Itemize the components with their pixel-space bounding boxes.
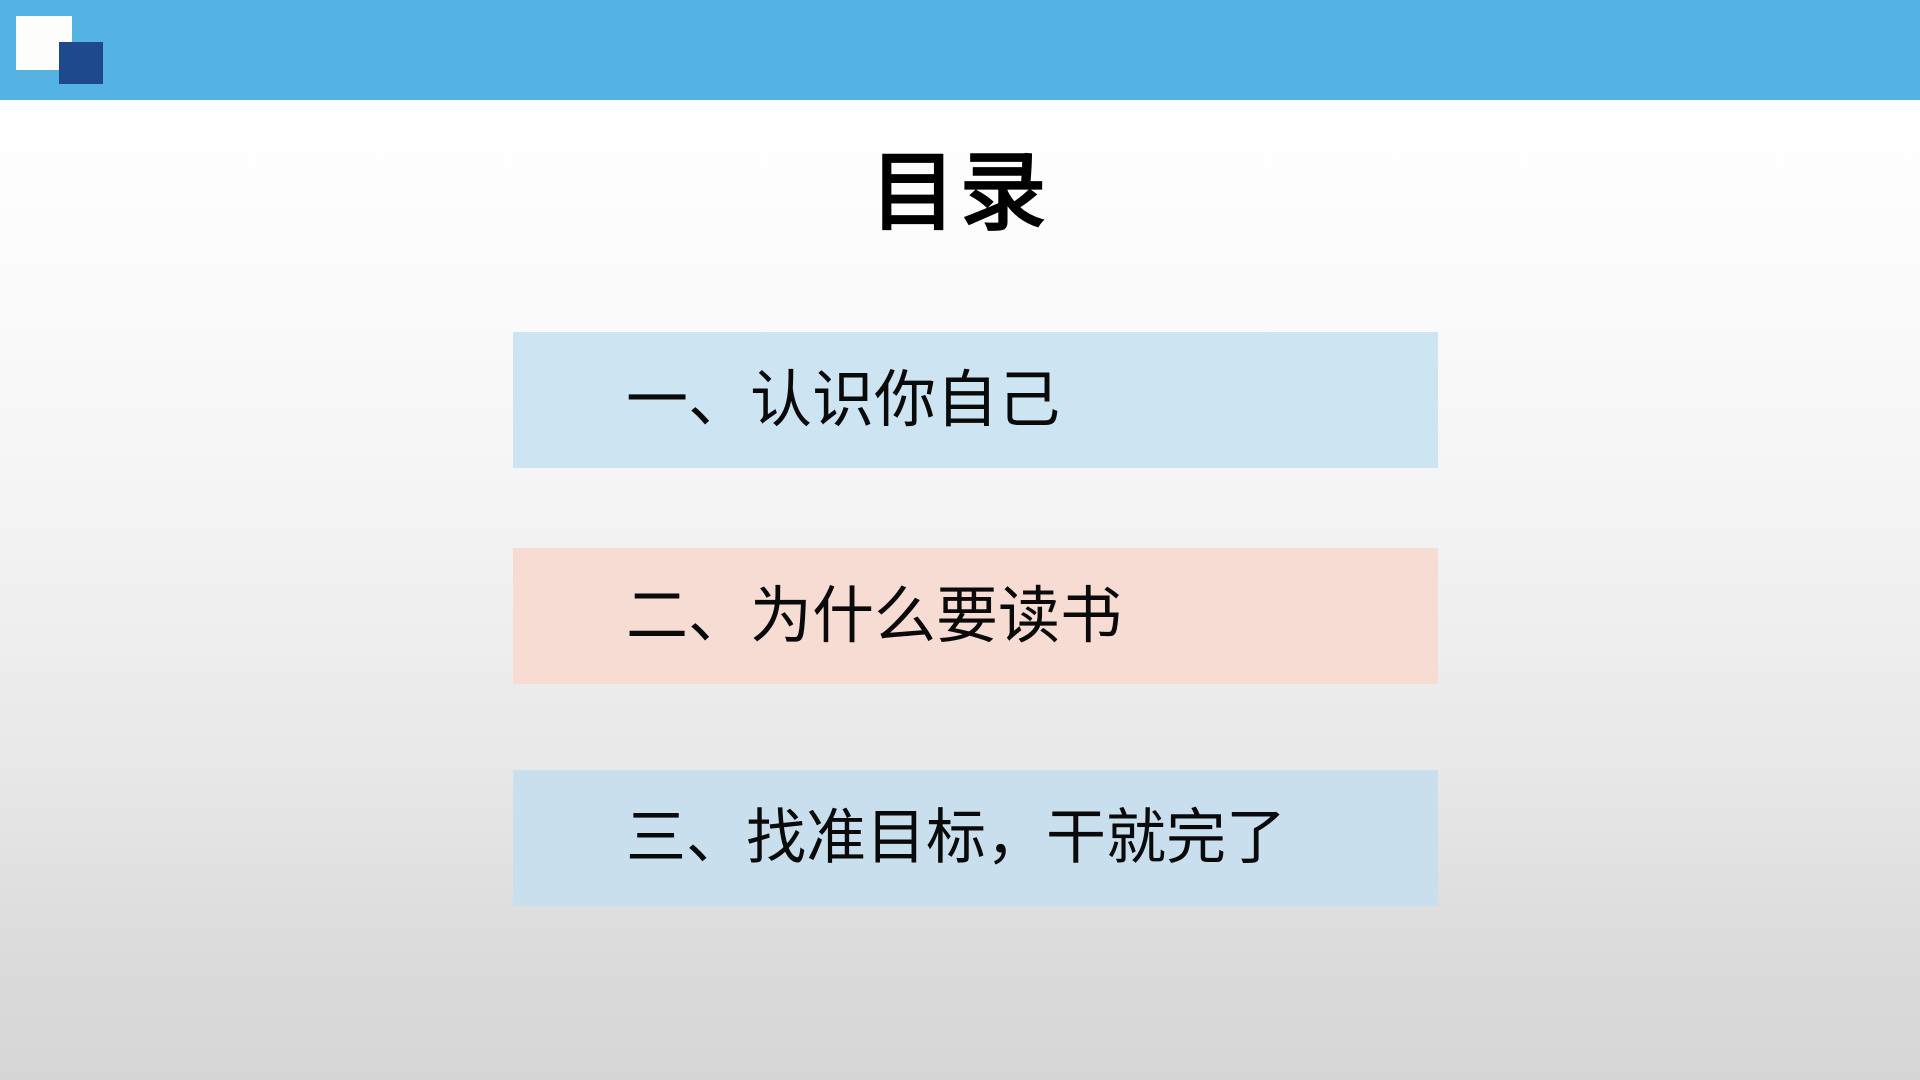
toc-entry-3[interactable]: 三、找准目标，干就完了 — [513, 770, 1438, 906]
toc-entry-1[interactable]: 一、认识你自己 — [513, 332, 1438, 468]
page-title: 目录 — [0, 150, 1920, 236]
header-bar — [0, 0, 1920, 100]
logo-navy-square-icon — [59, 42, 103, 84]
slide-canvas: 目录 一、认识你自己 二、为什么要读书 三、找准目标，干就完了 — [0, 0, 1920, 1080]
toc-entry-2-label: 二、为什么要读书 — [626, 585, 1122, 647]
brand-logo — [16, 16, 98, 84]
toc-entry-3-label: 三、找准目标，干就完了 — [626, 808, 1286, 868]
toc-entry-1-label: 一、认识你自己 — [626, 369, 1060, 431]
toc-entry-2[interactable]: 二、为什么要读书 — [513, 548, 1438, 684]
